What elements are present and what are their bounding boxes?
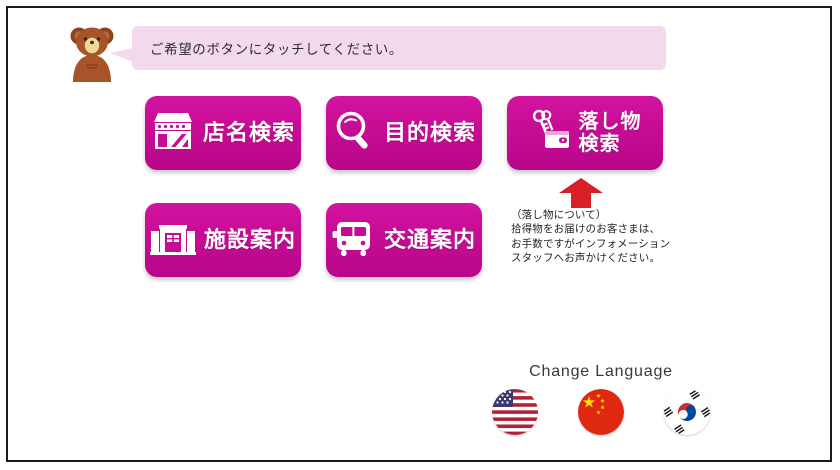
speech-bubble: ご希望のボタンにタッチしてください。 xyxy=(132,26,666,70)
building-icon xyxy=(150,220,196,261)
menu-button-label: 施設案内 xyxy=(204,228,296,253)
menu-button-label: 目的検索 xyxy=(384,121,476,146)
menu-button-purpose-search[interactable]: 目的検索 xyxy=(326,96,482,170)
bus-icon xyxy=(332,217,376,264)
flag-china-icon[interactable] xyxy=(578,389,624,435)
change-language-flag-row xyxy=(492,389,710,435)
magnifier-icon xyxy=(332,109,376,158)
menu-button-facility-guide[interactable]: 施設案内 xyxy=(145,203,301,277)
kiosk-frame: ご希望のボタンにタッチしてください。 xyxy=(6,6,832,462)
menu-button-lost-item-search[interactable]: 落し物 検索 xyxy=(507,96,663,170)
speech-bubble-text: ご希望のボタンにタッチしてください。 xyxy=(132,38,403,58)
flag-korea-icon[interactable] xyxy=(664,389,710,435)
keys-wallet-icon xyxy=(529,109,571,158)
menu-button-store-search[interactable]: 店名検索 xyxy=(145,96,301,170)
change-language-title: Change Language xyxy=(516,363,686,381)
storefront-icon xyxy=(151,110,195,157)
menu-button-label: 店名検索 xyxy=(203,121,295,146)
lost-item-note-text: （落し物について） 拾得物をお届けのお客さまは、 お手数ですがインフォメーション… xyxy=(511,208,711,266)
speech-bubble-tail xyxy=(110,48,133,62)
flag-usa-icon[interactable] xyxy=(492,389,538,435)
menu-button-transport-guide[interactable]: 交通案内 xyxy=(326,203,482,277)
red-up-arrow-icon xyxy=(559,178,603,208)
menu-button-label: 交通案内 xyxy=(384,228,476,253)
menu-button-label: 落し物 検索 xyxy=(579,111,642,156)
kiosk-screen: ご希望のボタンにタッチしてください。 xyxy=(8,8,830,460)
